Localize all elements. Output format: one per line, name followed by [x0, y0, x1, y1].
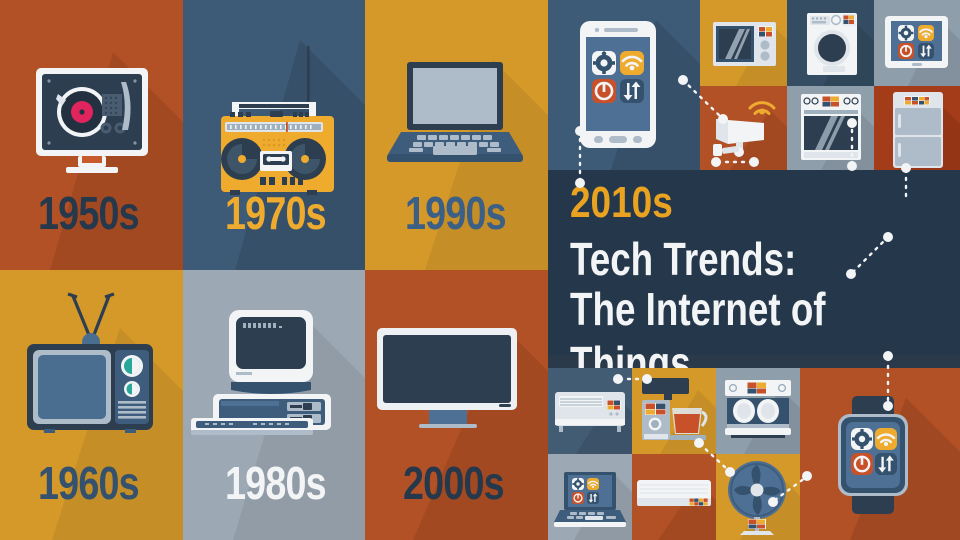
iot-tile-refrigerator [874, 86, 960, 170]
decade-label-2000s: 2000s [403, 456, 504, 510]
decade-label-1990s: 1990s [405, 186, 506, 240]
device-air-conditioner [637, 480, 711, 514]
decade-panel-1990s: 1990s [365, 0, 548, 270]
iot-tile-washing-machine [787, 0, 874, 86]
decade-panel-1970s: 1970s [183, 0, 365, 270]
iot-tile-laptop-iot [548, 454, 632, 540]
decade-label-1960s: 1960s [38, 456, 139, 510]
device-coffee-maker [642, 378, 708, 440]
decade-panel-1960s: 1960s [0, 270, 183, 540]
decade-panel-2000s: 2000s [365, 270, 548, 540]
title-line-1: Tech Trends: [570, 232, 796, 286]
device-space-heater [555, 392, 625, 434]
iot-tile-smartwatch [800, 368, 960, 540]
device-oven [801, 94, 861, 160]
device-laptop [387, 62, 523, 164]
decade-panel-1950s: 1950s [0, 0, 183, 270]
device-microwave [713, 22, 776, 66]
device-laptop-iot [554, 472, 626, 528]
device-dishwasher [725, 380, 791, 438]
iot-tile-electric-fan [716, 454, 800, 540]
title-decade: 2010s [570, 178, 673, 228]
iot-tile-tablet [874, 0, 960, 86]
decade-label-1970s: 1970s [225, 186, 326, 240]
device-tablet [885, 16, 948, 68]
title-panel: 2010s Tech Trends: The Internet of Thing… [548, 170, 960, 355]
decade-panel-1980s: 1980s [183, 270, 365, 540]
device-record-player [36, 68, 148, 173]
iot-tile-dishwasher [716, 368, 800, 454]
device-smartwatch [828, 396, 918, 514]
device-smartphone [580, 21, 656, 148]
device-washing-machine [807, 13, 857, 75]
iot-tile-coffee-maker [632, 368, 716, 454]
decade-label-1950s: 1950s [38, 186, 139, 240]
iot-tile-oven [787, 86, 874, 170]
device-security-camera [708, 96, 782, 160]
device-refrigerator [893, 92, 943, 168]
decade-label-1980s: 1980s [225, 456, 326, 510]
infographic-poster: 1950s [0, 0, 960, 540]
device-crt-television [25, 288, 155, 433]
iot-tile-smartphone [548, 0, 700, 180]
device-boombox [208, 40, 340, 168]
iot-tile-security-camera [700, 86, 787, 170]
device-electric-fan [724, 460, 790, 536]
iot-tile-air-conditioner [632, 454, 716, 540]
iot-tile-space-heater [548, 368, 632, 454]
device-desktop-computer [191, 310, 343, 435]
device-flat-monitor [377, 328, 517, 428]
iot-tile-microwave [700, 0, 787, 86]
